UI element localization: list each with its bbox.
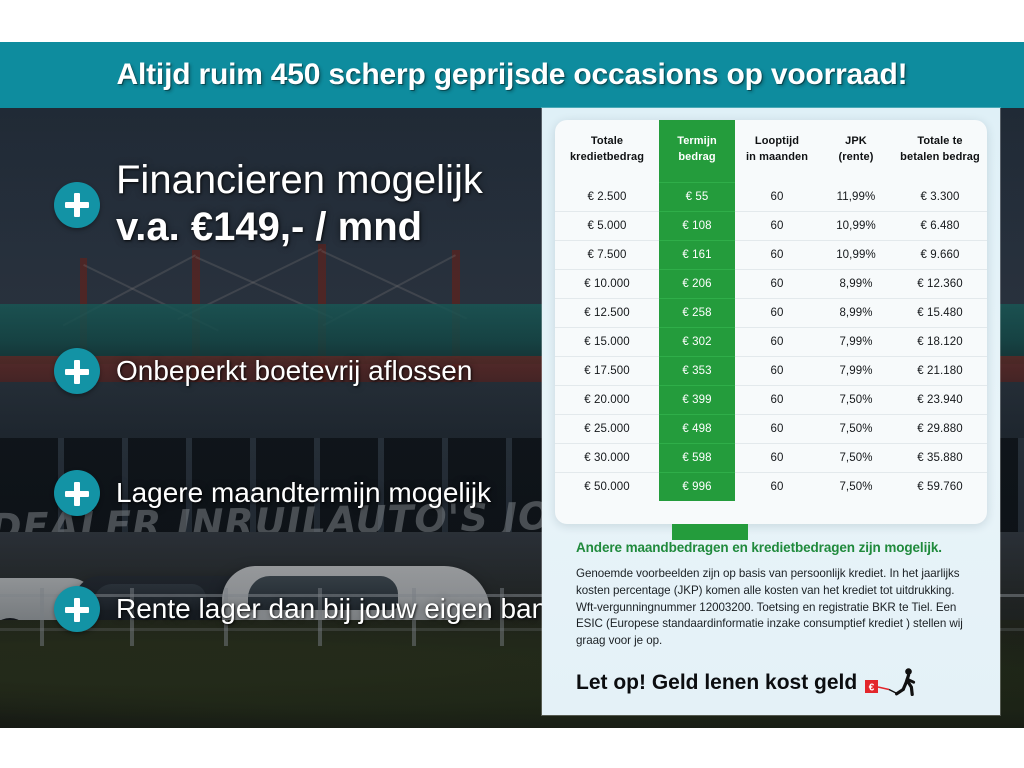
column-header-total-payable: Totale tebetalen bedrag: [893, 120, 987, 182]
cell-term: 60: [735, 327, 819, 356]
cell-total-credit: € 12.500: [555, 298, 659, 327]
feature-item-lower-rate: Rente lager dan bij jouw eigen bank: [54, 586, 561, 632]
column-header-total-credit: Totalekredietbedrag: [555, 120, 659, 182]
cell-apr: 7,50%: [819, 443, 893, 472]
feature-financing-line2: v.a. €149,- / mnd: [116, 203, 483, 252]
feature-financing-line1: Financieren mogelijk: [116, 158, 483, 203]
rates-table-card: Totalekredietbedrag Termijnbedrag Loopti…: [555, 120, 987, 524]
column-header-apr: JPK(rente): [819, 120, 893, 182]
cell-apr: 7,99%: [819, 327, 893, 356]
table-row: € 5.000€ 1086010,99%€ 6.480: [555, 211, 987, 240]
highlight-column-extension: [672, 524, 748, 540]
cell-term: 60: [735, 269, 819, 298]
table-row: € 30.000€ 598607,50%€ 35.880: [555, 443, 987, 472]
cell-term: 60: [735, 211, 819, 240]
cell-monthly-amount: € 302: [659, 327, 735, 356]
cell-total-credit: € 20.000: [555, 385, 659, 414]
rates-table-body: € 2.500€ 556011,99%€ 3.300€ 5.000€ 10860…: [555, 182, 987, 501]
finance-info-panel: Totalekredietbedrag Termijnbedrag Loopti…: [542, 108, 1000, 715]
cell-total-payable: € 15.480: [893, 298, 987, 327]
notes-block: Andere maandbedragen en kredietbedragen …: [576, 540, 968, 650]
afm-ball-and-chain-icon: €: [865, 668, 921, 698]
feature-item-lower-monthly: Lagere maandtermijn mogelijk: [54, 470, 491, 516]
cell-total-credit: € 5.000: [555, 211, 659, 240]
cell-apr: 8,99%: [819, 269, 893, 298]
table-row: € 7.500€ 1616010,99%€ 9.660: [555, 240, 987, 269]
feature-lower-monthly-label: Lagere maandtermijn mogelijk: [116, 477, 491, 509]
table-row: € 10.000€ 206608,99%€ 12.360: [555, 269, 987, 298]
plus-icon: [54, 470, 100, 516]
table-row: € 2.500€ 556011,99%€ 3.300: [555, 182, 987, 211]
cell-monthly-amount: € 498: [659, 414, 735, 443]
cell-monthly-amount: € 206: [659, 269, 735, 298]
column-header-term: Looptijdin maanden: [735, 120, 819, 182]
table-row: € 15.000€ 302607,99%€ 18.120: [555, 327, 987, 356]
cell-total-payable: € 21.180: [893, 356, 987, 385]
cell-total-payable: € 3.300: [893, 182, 987, 211]
cell-monthly-amount: € 108: [659, 211, 735, 240]
cell-monthly-amount: € 598: [659, 443, 735, 472]
cell-apr: 7,50%: [819, 472, 893, 501]
headline-banner: Altijd ruim 450 scherp geprijsde occasio…: [0, 42, 1024, 108]
feature-list: Financieren mogelijk v.a. €149,- / mnd O…: [0, 108, 545, 728]
cell-apr: 10,99%: [819, 211, 893, 240]
cell-apr: 10,99%: [819, 240, 893, 269]
feature-early-repayment-label: Onbeperkt boetevrij aflossen: [116, 355, 472, 387]
feature-item-early-repayment: Onbeperkt boetevrij aflossen: [54, 348, 472, 394]
cell-term: 60: [735, 182, 819, 211]
legal-warning-text: Let op! Geld lenen kost geld: [576, 671, 857, 695]
cell-total-payable: € 59.760: [893, 472, 987, 501]
headline-text: Altijd ruim 450 scherp geprijsde occasio…: [117, 58, 908, 92]
cell-term: 60: [735, 240, 819, 269]
cell-apr: 7,99%: [819, 356, 893, 385]
cell-term: 60: [735, 414, 819, 443]
cell-monthly-amount: € 353: [659, 356, 735, 385]
cell-total-credit: € 50.000: [555, 472, 659, 501]
cell-total-payable: € 29.880: [893, 414, 987, 443]
cell-apr: 7,50%: [819, 385, 893, 414]
advertisement-image: Altijd ruim 450 scherp geprijsde occasio…: [0, 0, 1024, 768]
cell-term: 60: [735, 443, 819, 472]
feature-lower-rate-label: Rente lager dan bij jouw eigen bank: [116, 593, 561, 625]
cell-total-payable: € 35.880: [893, 443, 987, 472]
cell-monthly-amount: € 161: [659, 240, 735, 269]
cell-term: 60: [735, 472, 819, 501]
feature-item-financing: Financieren mogelijk v.a. €149,- / mnd: [54, 158, 483, 252]
column-header-monthly-amount: Termijnbedrag: [659, 120, 735, 182]
cell-monthly-amount: € 399: [659, 385, 735, 414]
bottom-white-strip: [0, 728, 1024, 768]
cell-total-credit: € 25.000: [555, 414, 659, 443]
cell-total-credit: € 10.000: [555, 269, 659, 298]
cell-monthly-amount: € 996: [659, 472, 735, 501]
cell-apr: 8,99%: [819, 298, 893, 327]
cell-apr: 11,99%: [819, 182, 893, 211]
rates-table: Totalekredietbedrag Termijnbedrag Loopti…: [555, 120, 987, 501]
table-row: € 17.500€ 353607,99%€ 21.180: [555, 356, 987, 385]
cell-total-credit: € 7.500: [555, 240, 659, 269]
notes-body: Genoemde voorbeelden zijn op basis van p…: [576, 566, 968, 650]
table-row: € 50.000€ 996607,50%€ 59.760: [555, 472, 987, 501]
legal-warning: Let op! Geld lenen kost geld €: [576, 668, 976, 698]
table-header-row: Totalekredietbedrag Termijnbedrag Loopti…: [555, 120, 987, 182]
cell-total-payable: € 6.480: [893, 211, 987, 240]
table-row: € 20.000€ 399607,50%€ 23.940: [555, 385, 987, 414]
cell-term: 60: [735, 298, 819, 327]
plus-icon: [54, 348, 100, 394]
cell-total-credit: € 15.000: [555, 327, 659, 356]
notes-heading: Andere maandbedragen en kredietbedragen …: [576, 540, 968, 555]
cell-total-credit: € 2.500: [555, 182, 659, 211]
cell-term: 60: [735, 385, 819, 414]
cell-total-credit: € 30.000: [555, 443, 659, 472]
cell-total-payable: € 18.120: [893, 327, 987, 356]
cell-total-payable: € 23.940: [893, 385, 987, 414]
cell-total-payable: € 9.660: [893, 240, 987, 269]
table-row: € 12.500€ 258608,99%€ 15.480: [555, 298, 987, 327]
plus-icon: [54, 182, 100, 228]
cell-term: 60: [735, 356, 819, 385]
cell-total-payable: € 12.360: [893, 269, 987, 298]
svg-text:€: €: [869, 683, 875, 694]
table-row: € 25.000€ 498607,50%€ 29.880: [555, 414, 987, 443]
cell-apr: 7,50%: [819, 414, 893, 443]
cell-total-credit: € 17.500: [555, 356, 659, 385]
plus-icon: [54, 586, 100, 632]
cell-monthly-amount: € 55: [659, 182, 735, 211]
cell-monthly-amount: € 258: [659, 298, 735, 327]
